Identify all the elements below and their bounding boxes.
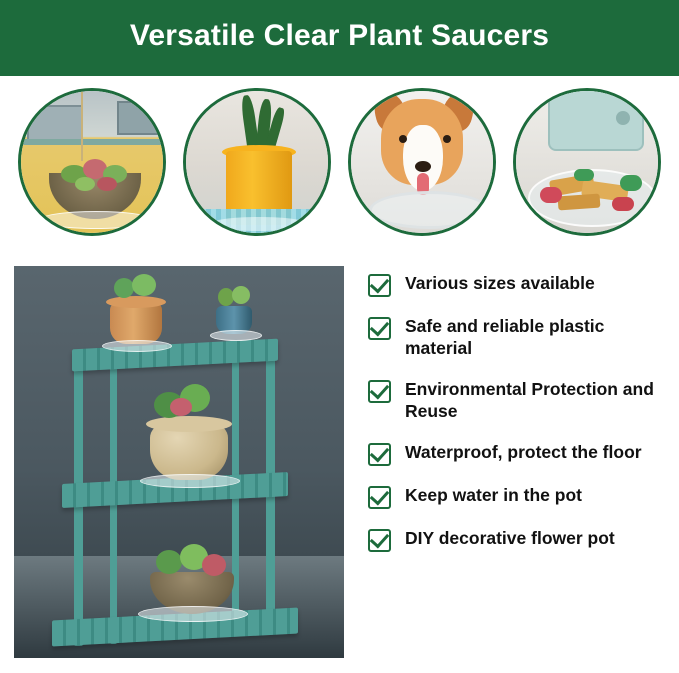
circle-photo-snacks-plate: [513, 88, 661, 236]
feature-label: Environmental Protection and Reuse: [405, 378, 667, 423]
main-photo-plant-stand: [14, 266, 344, 658]
succulent-plant: [232, 286, 250, 304]
candy-item: [574, 169, 594, 181]
candy-item: [620, 175, 642, 191]
feature-item: Keep water in the pot: [368, 484, 668, 509]
appliance-knob: [616, 111, 630, 125]
feature-list: Various sizes available Safe and reliabl…: [368, 272, 668, 570]
feature-item: Various sizes available: [368, 272, 668, 297]
dog-nose: [415, 161, 431, 172]
feature-label: Waterproof, protect the floor: [405, 441, 642, 463]
succulent-plant: [156, 550, 182, 574]
circle-photo-succulent-bowl: [18, 88, 166, 236]
hanging-wire: [81, 91, 83, 161]
clear-saucer: [210, 330, 262, 341]
feature-label: Safe and reliable plastic material: [405, 315, 667, 360]
succulent-plant: [114, 278, 134, 298]
snack-item: [558, 194, 601, 211]
dog-eye: [399, 135, 407, 143]
clear-saucer: [102, 340, 172, 352]
window-shape: [117, 101, 165, 135]
checkbox-check-icon: [368, 529, 391, 552]
page-title: Versatile Clear Plant Saucers: [130, 21, 549, 55]
circle-photo-yellow-pot: [183, 88, 331, 236]
flower-bloom: [202, 554, 226, 576]
feature-item: Environmental Protection and Reuse: [368, 378, 668, 423]
succulent-leaf: [75, 177, 95, 191]
dog-eye: [443, 135, 451, 143]
pot-rim: [146, 416, 232, 432]
candy-item: [612, 197, 634, 211]
clear-saucer-water-bowl: [369, 191, 489, 229]
circle-photo-dog-drinking: [348, 88, 496, 236]
terracotta-pot: [110, 302, 162, 344]
clear-saucer: [39, 211, 153, 229]
checkbox-check-icon: [368, 380, 391, 403]
flower-bloom: [170, 398, 192, 416]
clear-saucer: [210, 217, 308, 231]
checkbox-check-icon: [368, 274, 391, 297]
window-shape: [27, 105, 83, 143]
checkbox-check-icon: [368, 486, 391, 509]
feature-item: DIY decorative flower pot: [368, 527, 668, 552]
checkbox-check-icon: [368, 443, 391, 466]
succulent-leaf: [97, 177, 117, 191]
checkbox-check-icon: [368, 317, 391, 340]
feature-label: Various sizes available: [405, 272, 595, 294]
feature-label: Keep water in the pot: [405, 484, 582, 506]
clear-saucer: [138, 606, 248, 622]
beige-pot: [150, 424, 228, 480]
table-edge: [21, 139, 163, 145]
candy-item: [540, 187, 562, 203]
circle-photo-row: [0, 88, 679, 248]
feature-item: Safe and reliable plastic material: [368, 315, 668, 360]
pot-rim: [106, 296, 166, 308]
feature-item: Waterproof, protect the floor: [368, 441, 668, 466]
header-banner: Versatile Clear Plant Saucers: [0, 0, 679, 76]
succulent-plant: [132, 274, 156, 296]
clear-saucer: [140, 474, 240, 488]
feature-label: DIY decorative flower pot: [405, 527, 615, 549]
